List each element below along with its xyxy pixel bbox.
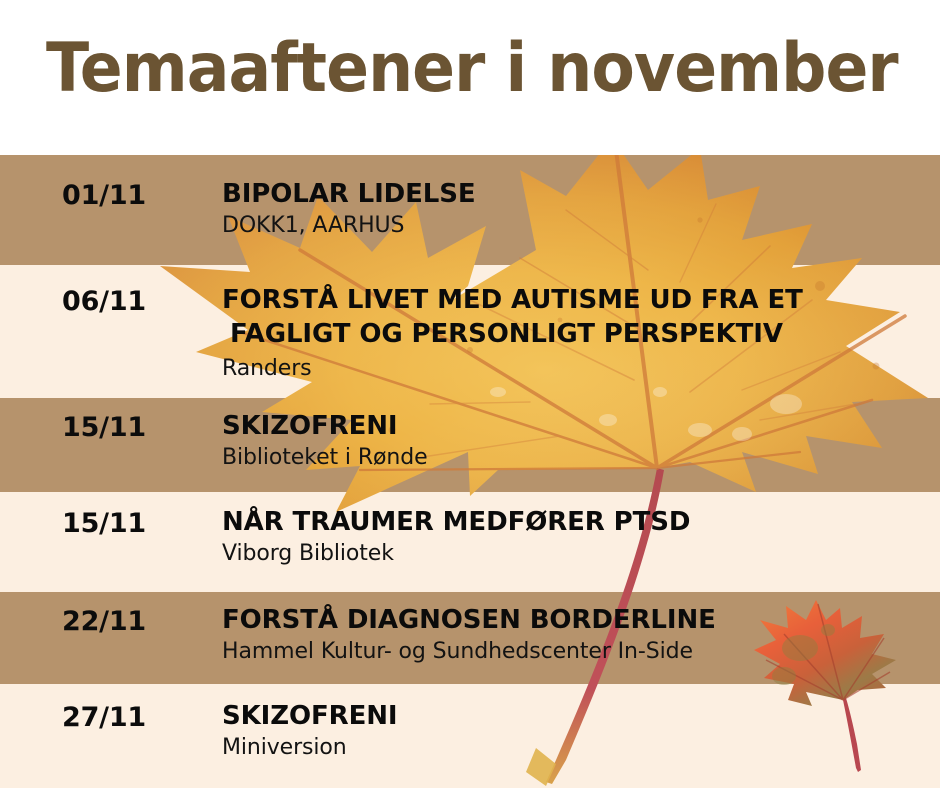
- event-title: FORSTÅ DIAGNOSEN BORDERLINE: [222, 603, 930, 637]
- event-body: SKIZOFRENI Biblioteket i Rønde: [222, 409, 930, 472]
- event-date: 15/11: [62, 509, 146, 539]
- event-body: NÅR TRAUMER MEDFØRER PTSD Viborg Bibliot…: [222, 505, 930, 568]
- event-venue: DOKK1, AARHUS: [222, 212, 930, 240]
- event-title: SKIZOFRENI: [222, 409, 930, 443]
- event-row-1[interactable]: 01/11 BIPOLAR LIDELSE DOKK1, AARHUS: [0, 155, 940, 265]
- event-row-3[interactable]: 15/11 SKIZOFRENI Biblioteket i Rønde: [0, 398, 940, 492]
- poster-header: Temaaftener i november: [0, 0, 940, 155]
- event-venue: Randers: [222, 355, 930, 383]
- event-venue: Miniversion: [222, 734, 930, 762]
- event-body: FORSTÅ DIAGNOSEN BORDERLINE Hammel Kultu…: [222, 603, 930, 666]
- event-title-line-2: FAGLIGT OG PERSONLIGT PERSPEKTIV: [222, 317, 930, 351]
- event-title: FORSTÅ LIVET MED AUTISME UD FRA ETFAGLIG…: [222, 283, 930, 351]
- event-date: 22/11: [62, 607, 146, 637]
- event-row-5[interactable]: 22/11 FORSTÅ DIAGNOSEN BORDERLINE Hammel…: [0, 592, 940, 684]
- event-title: SKIZOFRENI: [222, 699, 930, 733]
- event-row-2[interactable]: 06/11 FORSTÅ LIVET MED AUTISME UD FRA ET…: [0, 265, 940, 398]
- event-date: 27/11: [62, 703, 146, 733]
- event-venue: Biblioteket i Rønde: [222, 444, 930, 472]
- event-title-line-1: FORSTÅ LIVET MED AUTISME UD FRA ET: [222, 285, 803, 315]
- event-date: 15/11: [62, 413, 146, 443]
- event-row-6[interactable]: 27/11 SKIZOFRENI Miniversion: [0, 684, 940, 788]
- event-row-4[interactable]: 15/11 NÅR TRAUMER MEDFØRER PTSD Viborg B…: [0, 492, 940, 592]
- event-date: 06/11: [62, 287, 146, 317]
- event-date: 01/11: [62, 181, 146, 211]
- event-title: BIPOLAR LIDELSE: [222, 177, 930, 211]
- page-title: Temaaftener i november: [46, 30, 898, 108]
- event-body: FORSTÅ LIVET MED AUTISME UD FRA ETFAGLIG…: [222, 283, 930, 383]
- event-title: NÅR TRAUMER MEDFØRER PTSD: [222, 505, 930, 539]
- event-body: SKIZOFRENI Miniversion: [222, 699, 930, 762]
- poster-canvas: Temaaftener i november 01/11 BIPOLAR LID…: [0, 0, 940, 788]
- event-body: BIPOLAR LIDELSE DOKK1, AARHUS: [222, 177, 930, 240]
- event-venue: Viborg Bibliotek: [222, 540, 930, 568]
- event-venue: Hammel Kultur- og Sundhedscenter In-Side: [222, 638, 930, 666]
